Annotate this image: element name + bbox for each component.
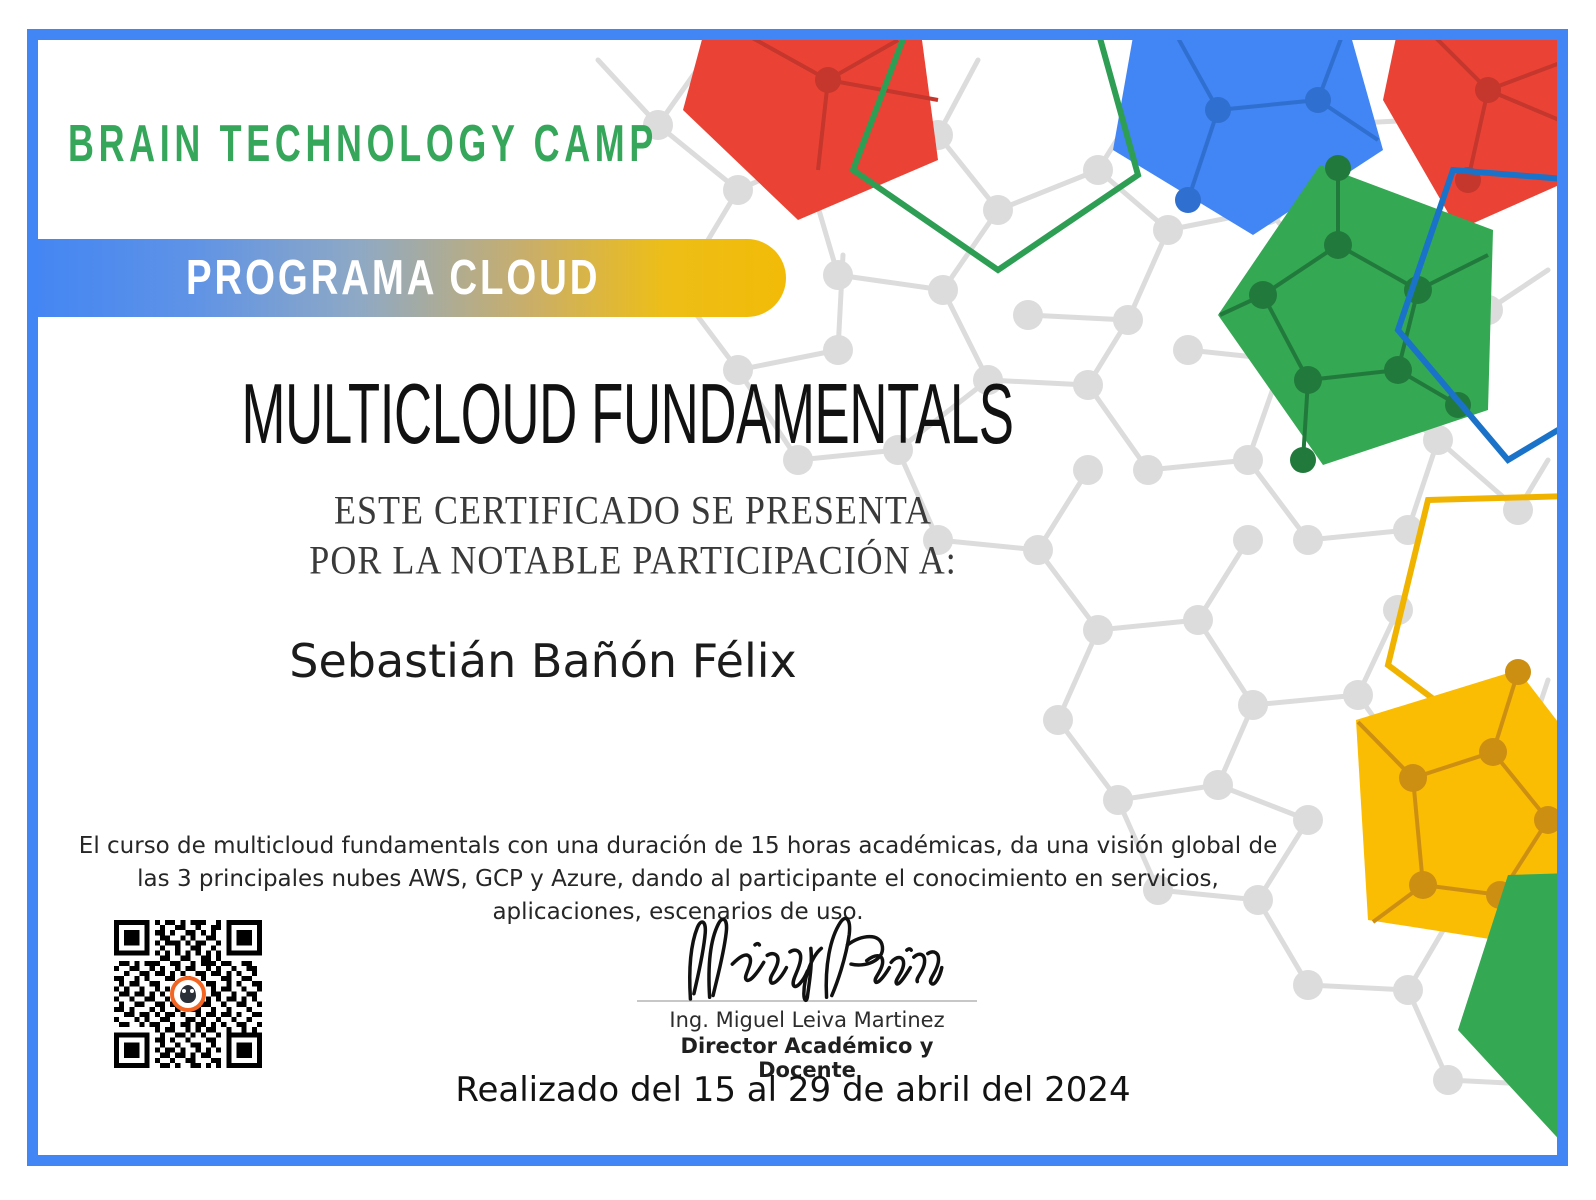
polygon-red-2 xyxy=(1383,40,1557,230)
certificate-page: BRAIN TECHNOLOGY CAMP PROGRAMA CLOUD MUL… xyxy=(0,0,1596,1200)
polygon-green-outline xyxy=(853,40,1138,270)
program-banner-label: PROGRAMA CLOUD xyxy=(186,251,600,306)
qr-code[interactable] xyxy=(114,920,262,1068)
presentation-line-2: POR LA NOTABLE PARTICIPACIÓN A: xyxy=(38,532,1228,588)
polygon-red-1 xyxy=(683,40,938,220)
signature-block: Ing. Miguel Leiva Martinez Director Acad… xyxy=(632,910,982,1082)
completion-date: Realizado del 15 al 29 de abril del 2024 xyxy=(38,1070,1548,1110)
brand-title: BRAIN TECHNOLOGY CAMP xyxy=(68,113,658,173)
course-title-text: MULTICLOUD FUNDAMENTALS xyxy=(242,364,1014,463)
presentation-block: ESTE CERTIFICADO SE PRESENTA POR LA NOTA… xyxy=(38,485,1228,585)
presentation-line-1: ESTE CERTIFICADO SE PRESENTA xyxy=(38,482,1228,538)
polygon-blue-1 xyxy=(1113,40,1383,235)
recipient-name: Sebastián Bañón Félix xyxy=(38,634,1048,688)
course-title: MULTICLOUD FUNDAMENTALS xyxy=(38,375,1218,451)
polygon-green-bottom xyxy=(1458,870,1557,1155)
certificate-frame: BRAIN TECHNOLOGY CAMP PROGRAMA CLOUD MUL… xyxy=(27,29,1568,1166)
handwritten-signature-icon xyxy=(659,910,956,1006)
owl-logo-icon xyxy=(170,976,206,1012)
polygon-yellow-outline xyxy=(1388,495,1557,770)
signatory-name: Ing. Miguel Leiva Martinez xyxy=(632,1008,982,1032)
polygon-yellow-filled xyxy=(1356,659,1557,945)
polygon-blue-outline xyxy=(1398,170,1557,460)
polygon-green-filled xyxy=(1218,155,1493,473)
certificate-inner: BRAIN TECHNOLOGY CAMP PROGRAMA CLOUD MUL… xyxy=(38,40,1557,1155)
program-banner: PROGRAMA CLOUD xyxy=(38,239,786,317)
